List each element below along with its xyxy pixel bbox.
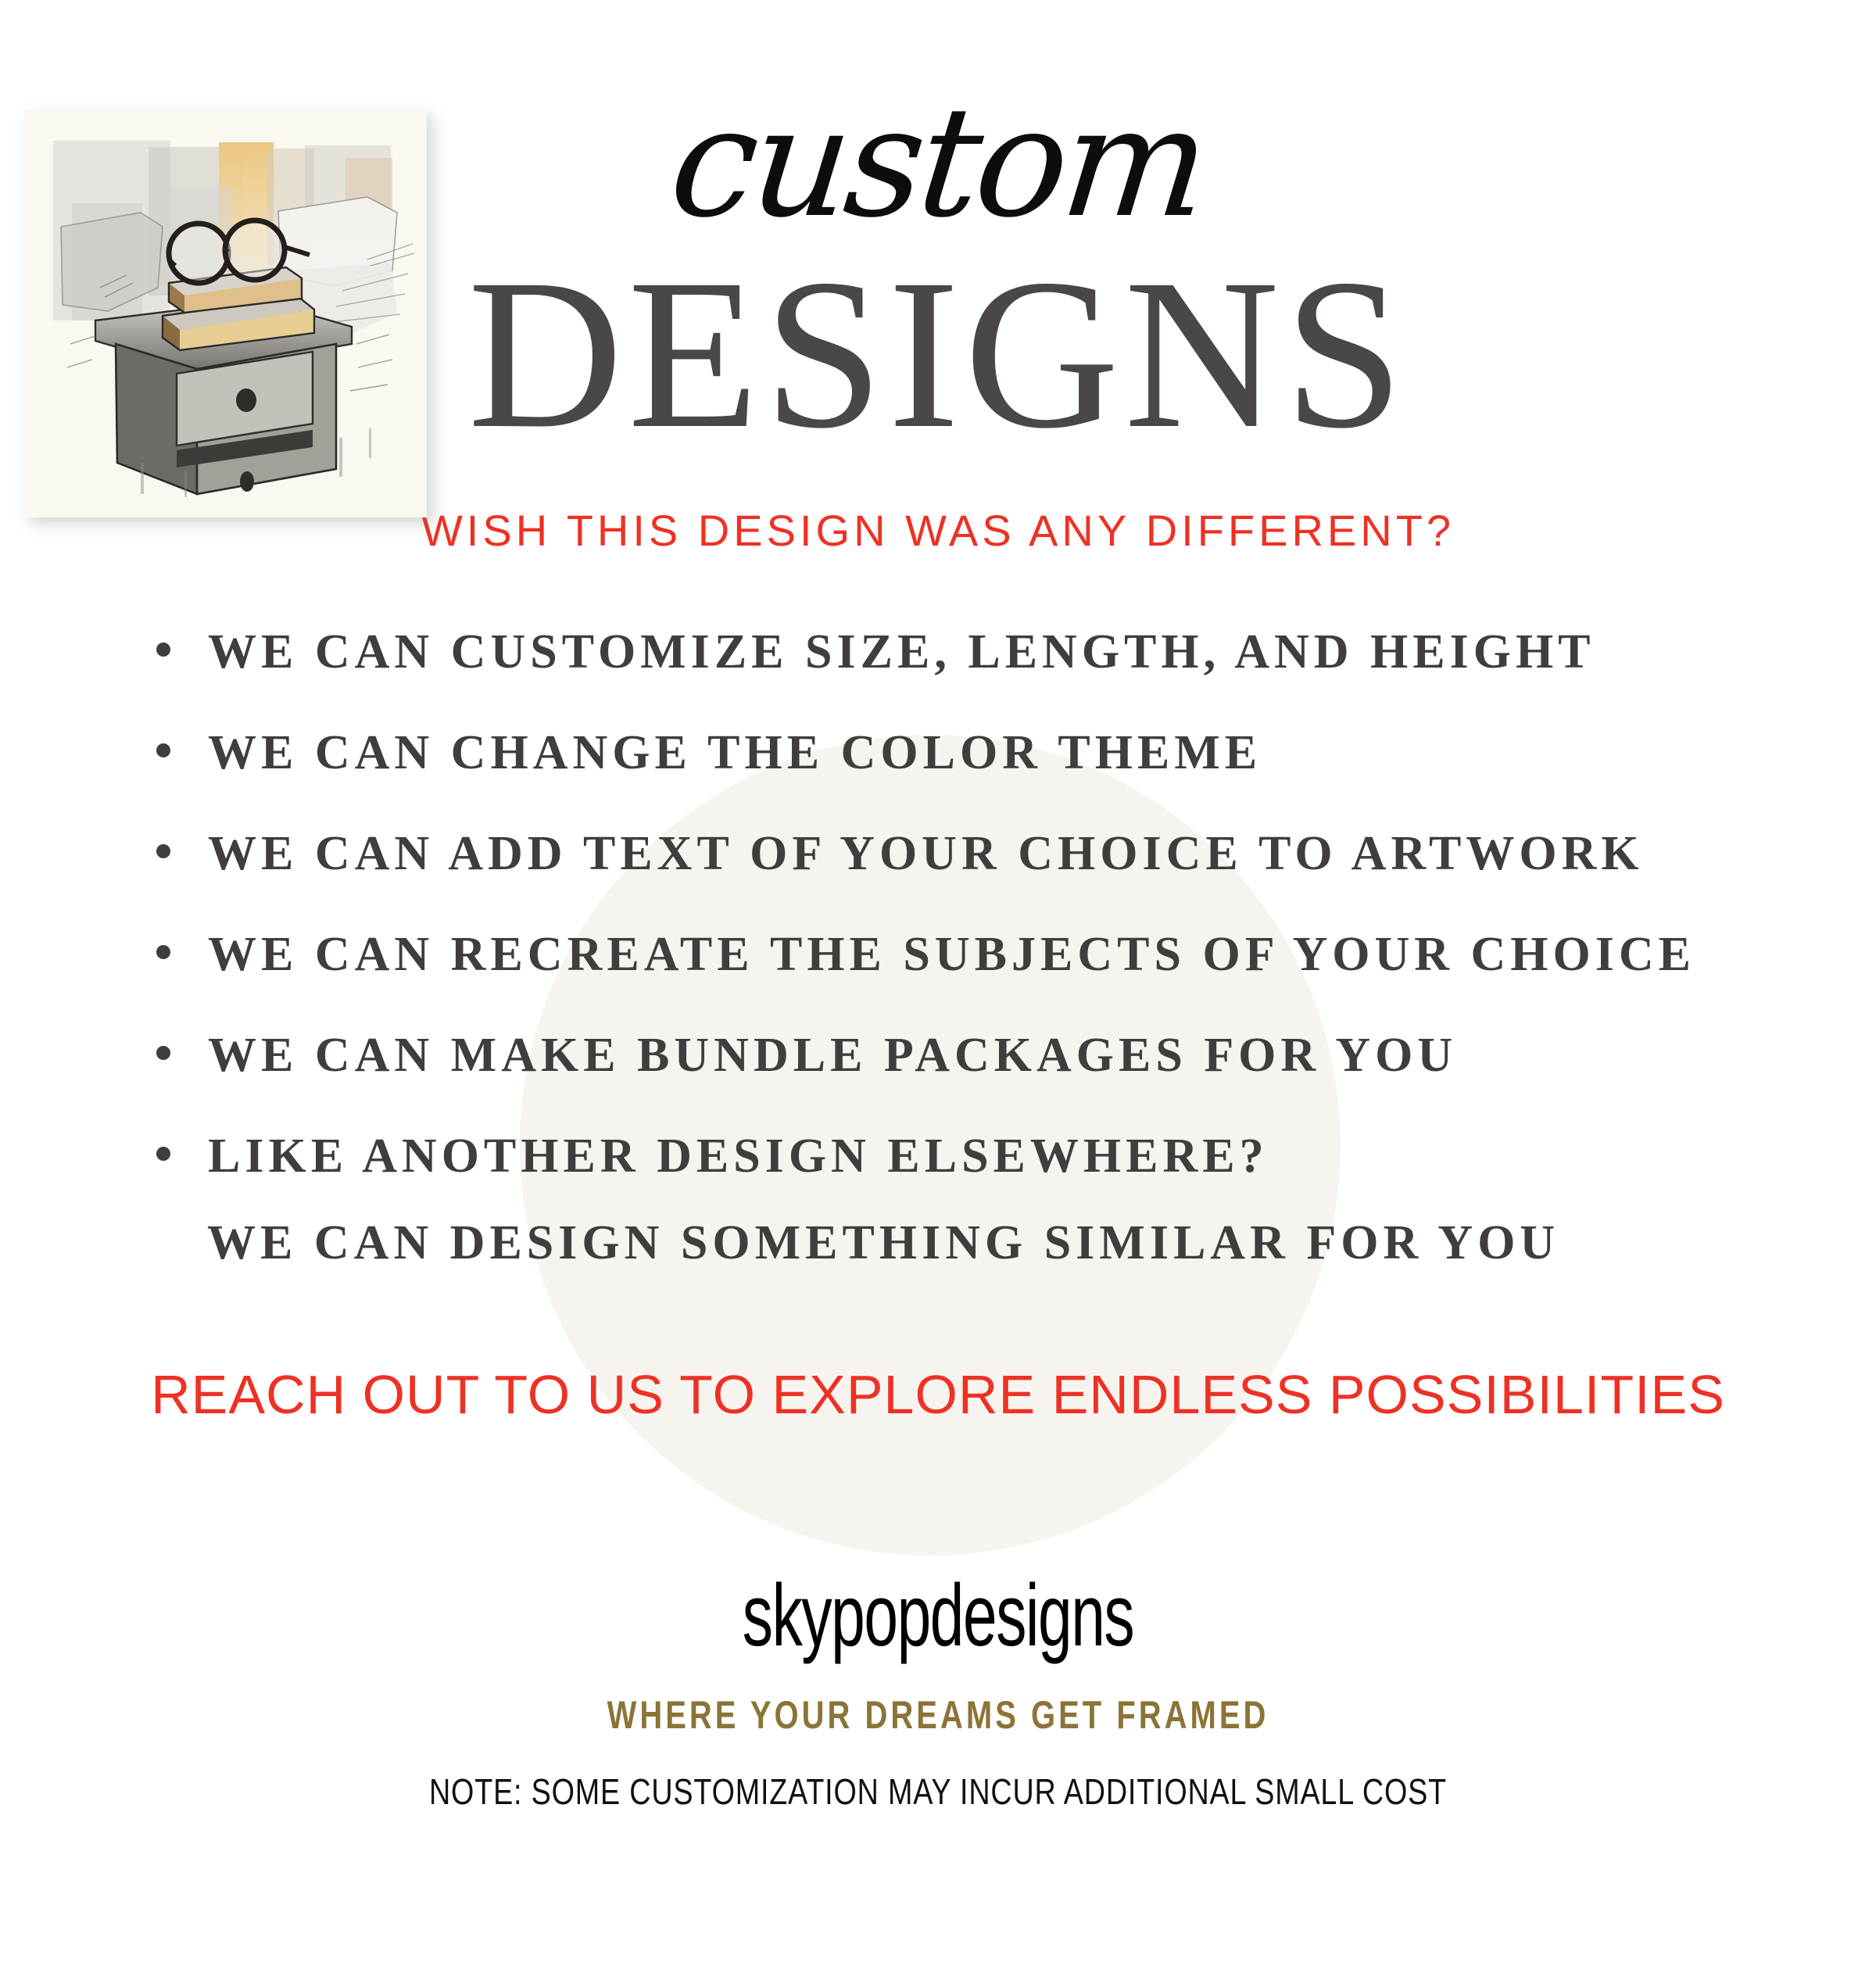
list-item: WE CAN CHANGE THE COLOR THEME xyxy=(156,725,1767,781)
feature-list: WE CAN CUSTOMIZE SIZE, LENGTH, AND HEIGH… xyxy=(156,625,1767,1184)
bullet-dot-icon xyxy=(156,1046,170,1060)
list-item-label: WE CAN CUSTOMIZE SIZE, LENGTH, AND HEIGH… xyxy=(208,625,1595,680)
nightstand-artwork-illustration xyxy=(23,109,427,517)
brand-logo-wordmark: skypopdesigns xyxy=(281,1565,1595,1666)
list-item-label: WE CAN ADD TEXT OF YOUR CHOICE TO ARTWOR… xyxy=(208,826,1644,882)
brand-tagline: WHERE YOUR DREAMS GET FRAMED xyxy=(188,1692,1688,1738)
feature-list-continuation: WE CAN DESIGN SOMETHING SIMILAR FOR YOU xyxy=(207,1216,1876,1271)
list-item-label: WE CAN RECREATE THE SUBJECTS OF YOUR CHO… xyxy=(208,927,1695,983)
list-item: WE CAN CUSTOMIZE SIZE, LENGTH, AND HEIGH… xyxy=(156,625,1767,680)
bullet-dot-icon xyxy=(156,1147,170,1161)
bullet-dot-icon xyxy=(156,844,170,858)
list-item-label: LIKE ANOTHER DESIGN ELSEWHERE? xyxy=(208,1129,1269,1184)
footnote-disclaimer: NOTE: SOME CUSTOMIZATION MAY INCUR ADDIT… xyxy=(169,1770,1707,1813)
list-item: LIKE ANOTHER DESIGN ELSEWHERE? xyxy=(156,1129,1767,1184)
bullet-dot-icon xyxy=(156,643,170,657)
list-item-label: WE CAN CHANGE THE COLOR THEME xyxy=(208,725,1262,781)
list-item: WE CAN ADD TEXT OF YOUR CHOICE TO ARTWOR… xyxy=(156,826,1767,882)
bullet-dot-icon xyxy=(156,945,170,959)
bullet-dot-icon xyxy=(156,743,170,757)
list-item: WE CAN RECREATE THE SUBJECTS OF YOUR CHO… xyxy=(156,927,1767,983)
call-to-action-text: REACH OUT TO US TO EXPLORE ENDLESS POSSI… xyxy=(0,1363,1876,1426)
product-artwork-thumbnail[interactable] xyxy=(23,109,427,517)
list-item-label: WE CAN MAKE BUNDLE PACKAGES FOR YOU xyxy=(208,1028,1457,1083)
list-item: WE CAN MAKE BUNDLE PACKAGES FOR YOU xyxy=(156,1028,1767,1083)
